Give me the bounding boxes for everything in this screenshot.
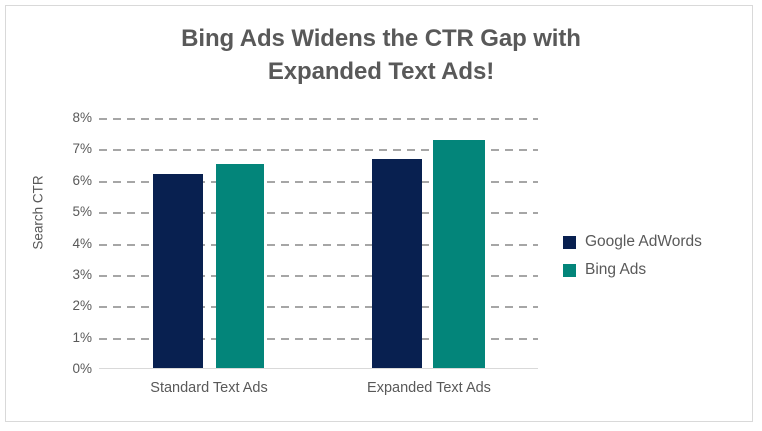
chart-title-line-2: Expanded Text Ads! [60,55,702,88]
y-tick-label: 0% [46,362,92,376]
y-tick-label: 2% [46,299,92,313]
gridline [99,118,538,120]
chart-card: Bing Ads Widens the CTR Gap with Expande… [0,0,762,431]
bar-bing-ads-expanded-text-ads[interactable] [433,140,485,369]
chart-legend: Google AdWords Bing Ads [563,228,702,284]
y-tick-label: 6% [46,174,92,188]
legend-item-google-adwords[interactable]: Google AdWords [563,228,702,256]
y-tick-label: 7% [46,142,92,156]
y-tick-label: 5% [46,205,92,219]
chart-title-line-1: Bing Ads Widens the CTR Gap with [60,22,702,55]
legend-item-bing-ads[interactable]: Bing Ads [563,256,702,284]
legend-label-bing-ads: Bing Ads [585,261,646,279]
legend-swatch-google-adwords [563,236,576,249]
bar-google-adwords-standard-text-ads[interactable] [153,174,203,369]
y-tick-label: 4% [46,237,92,251]
legend-label-google-adwords: Google AdWords [585,233,702,251]
y-axis-tick-labels: 8% 7% 6% 5% 4% 3% 2% 1% 0% [44,118,92,369]
x-axis-line [99,368,538,369]
x-category-label-standard-text-ads: Standard Text Ads [99,380,319,396]
x-category-label-expanded-text-ads: Expanded Text Ads [319,380,539,396]
y-tick-label: 8% [46,111,92,125]
legend-swatch-bing-ads [563,264,576,277]
y-tick-label: 1% [46,331,92,345]
chart-title: Bing Ads Widens the CTR Gap with Expande… [60,22,702,88]
bar-bing-ads-standard-text-ads[interactable] [216,164,264,370]
bar-google-adwords-expanded-text-ads[interactable] [372,159,422,369]
plot-area [99,118,538,369]
y-tick-label: 3% [46,268,92,282]
